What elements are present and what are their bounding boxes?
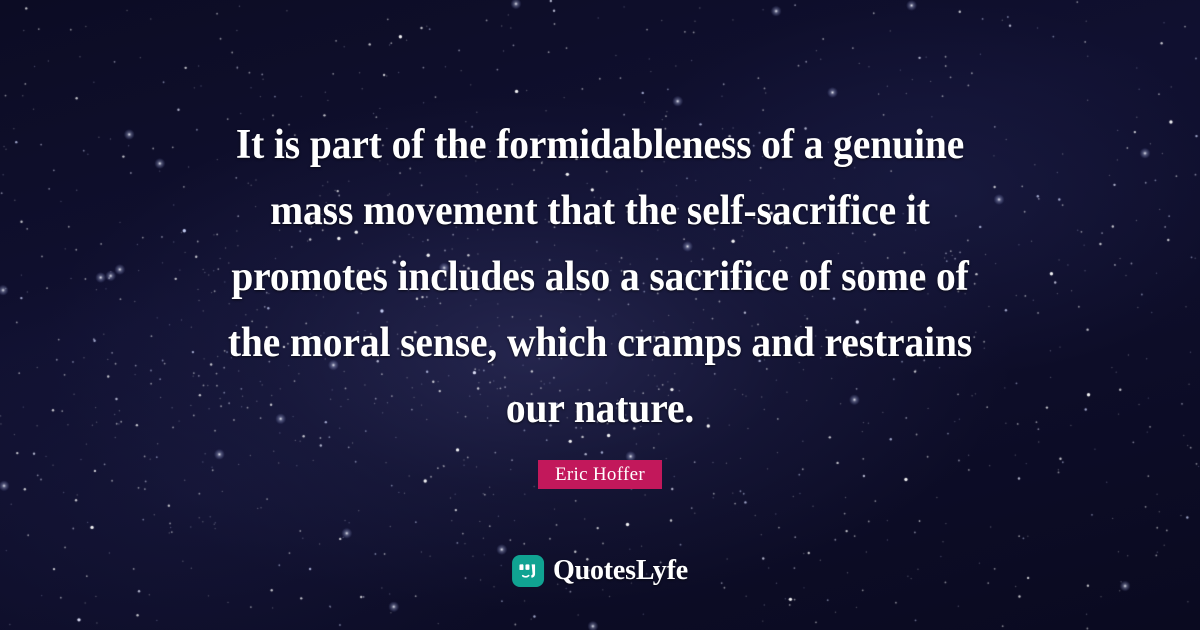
quote-line: mass movement that the self-sacrifice it bbox=[177, 178, 1023, 244]
quote-card: It is part of the formidableness of a ge… bbox=[0, 0, 1200, 630]
quote-mark-icon bbox=[512, 555, 544, 587]
quote-line: the moral sense, which cramps and restra… bbox=[177, 310, 1023, 376]
quote-line: promotes includes also a sacrifice of so… bbox=[177, 244, 1023, 310]
quote-line: It is part of the formidableness of a ge… bbox=[177, 112, 1023, 178]
quote-line: our nature. bbox=[177, 376, 1023, 442]
author-badge[interactable]: Eric Hoffer bbox=[538, 460, 662, 489]
quote-text: It is part of the formidableness of a ge… bbox=[150, 112, 1050, 442]
brand-logo[interactable]: QuotesLyfe bbox=[512, 555, 688, 587]
brand-name: QuotesLyfe bbox=[553, 557, 688, 585]
